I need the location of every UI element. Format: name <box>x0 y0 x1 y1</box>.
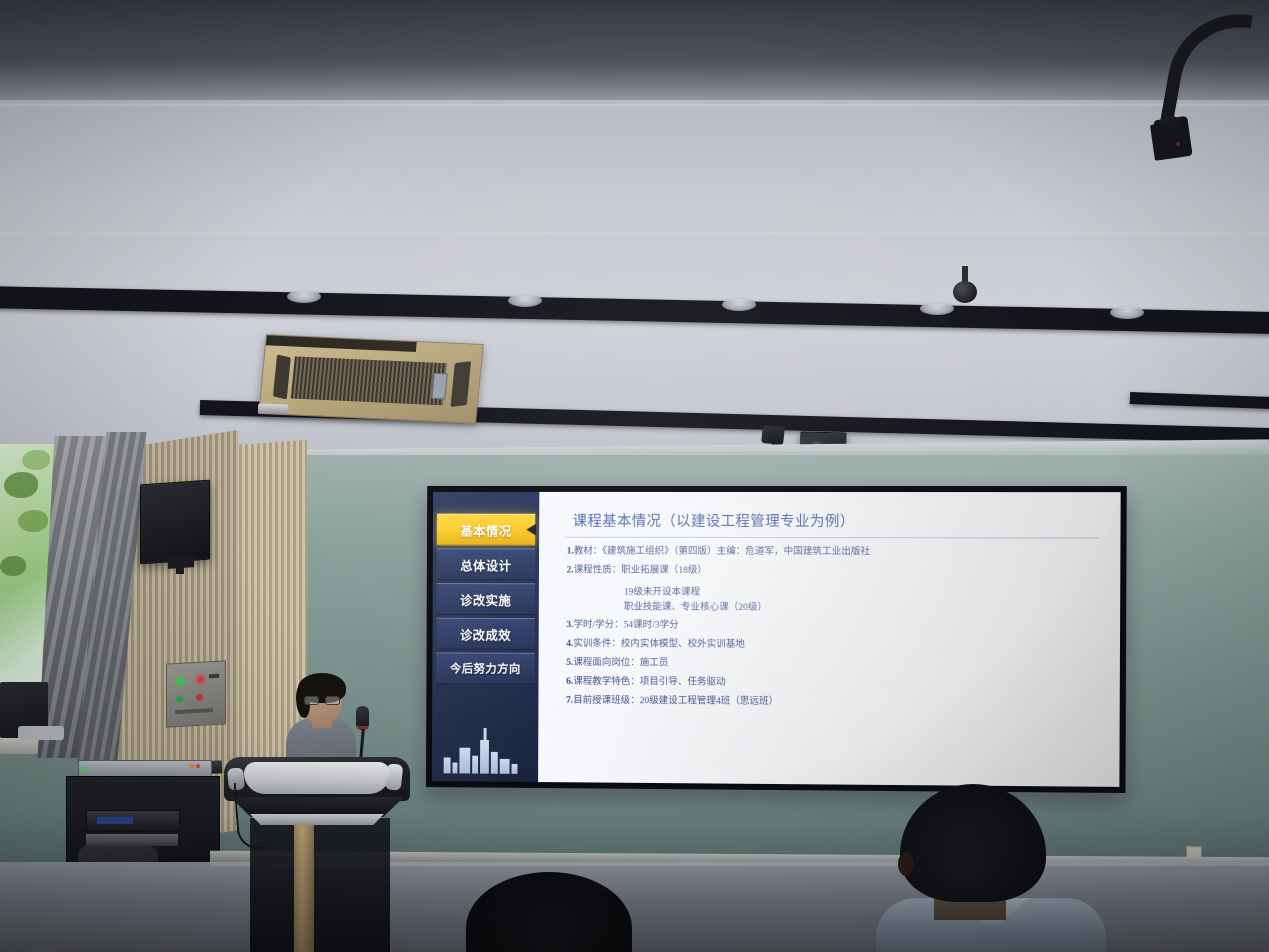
rack-amplifier <box>86 810 180 832</box>
aux-on-button[interactable] <box>176 696 183 703</box>
left-arrow-icon <box>526 524 536 536</box>
bullet-text: 实训条件：校内实体模型、校外实训基地 <box>573 638 745 650</box>
av-control-panel[interactable] <box>166 660 226 727</box>
downlight-icon <box>508 294 542 307</box>
glasses-icon <box>304 696 340 703</box>
gooseneck-knob <box>1160 116 1180 127</box>
sidebar-item-label: 今后努力方向 <box>450 660 521 676</box>
sidebar-item-implementation[interactable]: 诊改实施 <box>436 583 534 615</box>
podium-highlight <box>385 763 404 791</box>
panel-label-strip <box>175 708 213 714</box>
slide-bullet: 5.课程面向岗位：施工员 <box>566 657 1103 672</box>
rack-player <box>86 834 178 846</box>
slide-body: 课程基本情况（以建设工程管理专业为例） 1.教材：《建筑施工组织》（第四版）主编… <box>538 492 1121 787</box>
sidebar-item-basic-info[interactable]: 基本情况 <box>437 514 535 546</box>
status-led <box>1176 142 1180 146</box>
ceiling-fitting <box>258 403 288 414</box>
power-off-button[interactable] <box>197 676 204 683</box>
status-led <box>196 764 200 768</box>
power-on-button[interactable] <box>177 678 184 685</box>
speaker-bracket <box>176 566 184 574</box>
title-divider <box>565 537 1098 539</box>
wall-speaker <box>140 480 210 565</box>
slide-title: 课程基本情况（以建设工程管理专业为例） <box>573 510 1105 532</box>
sidebar-item-label: 总体设计 <box>460 555 511 574</box>
slide-sidebar: 基本情况 总体设计 诊改实施 诊改成效 今后努力方向 <box>432 492 539 782</box>
bullet-text: 目前授课班级：20级建设工程管理4班（思远班） <box>573 695 778 707</box>
slide-bullet: 7.目前授课班级：20级建设工程管理4班（思远班） <box>566 695 1103 710</box>
ac-grille-icon <box>291 357 447 406</box>
sidebar-item-overall-design[interactable]: 总体设计 <box>437 548 535 580</box>
sidebar-item-label: 诊改实施 <box>460 590 511 609</box>
downlight-icon <box>722 298 756 311</box>
downlight-icon <box>1110 306 1144 319</box>
bullet-text: 课程性质：职业拓展课（18级） <box>574 565 707 576</box>
sidebar-item-label: 诊改成效 <box>460 624 511 643</box>
status-led <box>82 767 86 771</box>
bullet-subline: 19级未开设本课程 <box>624 584 1104 600</box>
bullet-subline: 职业技能课、专业核心课（20级） <box>624 598 1104 614</box>
bullet-text: 课程教学特色：项目引导、任务驱动 <box>573 676 725 688</box>
slide-bullet: 6.课程教学特色：项目引导、任务驱动 <box>566 676 1103 691</box>
sidebar-item-results[interactable]: 诊改成效 <box>436 618 534 650</box>
rack-display <box>97 817 133 824</box>
spotlight-icon <box>761 425 785 445</box>
ceiling-camera-icon <box>953 281 977 303</box>
bullet-text: 学时/学分：54课时/3学分 <box>573 619 678 630</box>
slide-bullet: 4.实训条件：校内实体模型、校外实训基地 <box>566 638 1103 652</box>
ac-sensor-icon <box>431 373 448 400</box>
slide-bullet: 1.教材：《建筑施工组织》（第四版）主编：危道军，中国建筑工业出版社 <box>567 546 1104 559</box>
ceiling-seam <box>0 104 1269 106</box>
podium-shadow <box>250 818 390 952</box>
desk-object <box>18 726 64 740</box>
lecture-hall-photo: 基本情况 总体设计 诊改实施 诊改成效 今后努力方向 <box>0 0 1269 952</box>
downlight-icon <box>287 290 321 303</box>
bullet-text: 教材：《建筑施工组织》（第四版）主编：危道军，中国建筑工业出版社 <box>574 546 870 558</box>
podium-shelf <box>250 814 384 825</box>
podium-panel <box>244 762 390 794</box>
slide-bullet: 2.课程性质：职业拓展课（18级） <box>567 564 1104 577</box>
ceiling-air-conditioner <box>258 334 484 424</box>
ear <box>898 852 914 876</box>
ceiling-seam <box>0 232 1269 234</box>
sidebar-item-label: 基本情况 <box>460 520 511 539</box>
sidebar-item-future-direction[interactable]: 今后努力方向 <box>436 652 534 684</box>
downlight-icon <box>920 302 954 315</box>
city-skyline-icon <box>444 732 529 774</box>
aux-off-button[interactable] <box>196 694 203 701</box>
slide-bullet: 3.学时/学分：54课时/3学分 <box>566 619 1103 633</box>
bullet-text: 课程面向岗位：施工员 <box>573 657 668 668</box>
key-switch-icon[interactable] <box>209 674 219 679</box>
podium-column <box>294 820 314 952</box>
microphone-ring <box>357 726 368 729</box>
projection-screen: 基本情况 总体设计 诊改实施 诊改成效 今后努力方向 <box>426 486 1127 793</box>
status-led <box>190 764 194 768</box>
ceiling-shadow <box>0 0 1269 100</box>
